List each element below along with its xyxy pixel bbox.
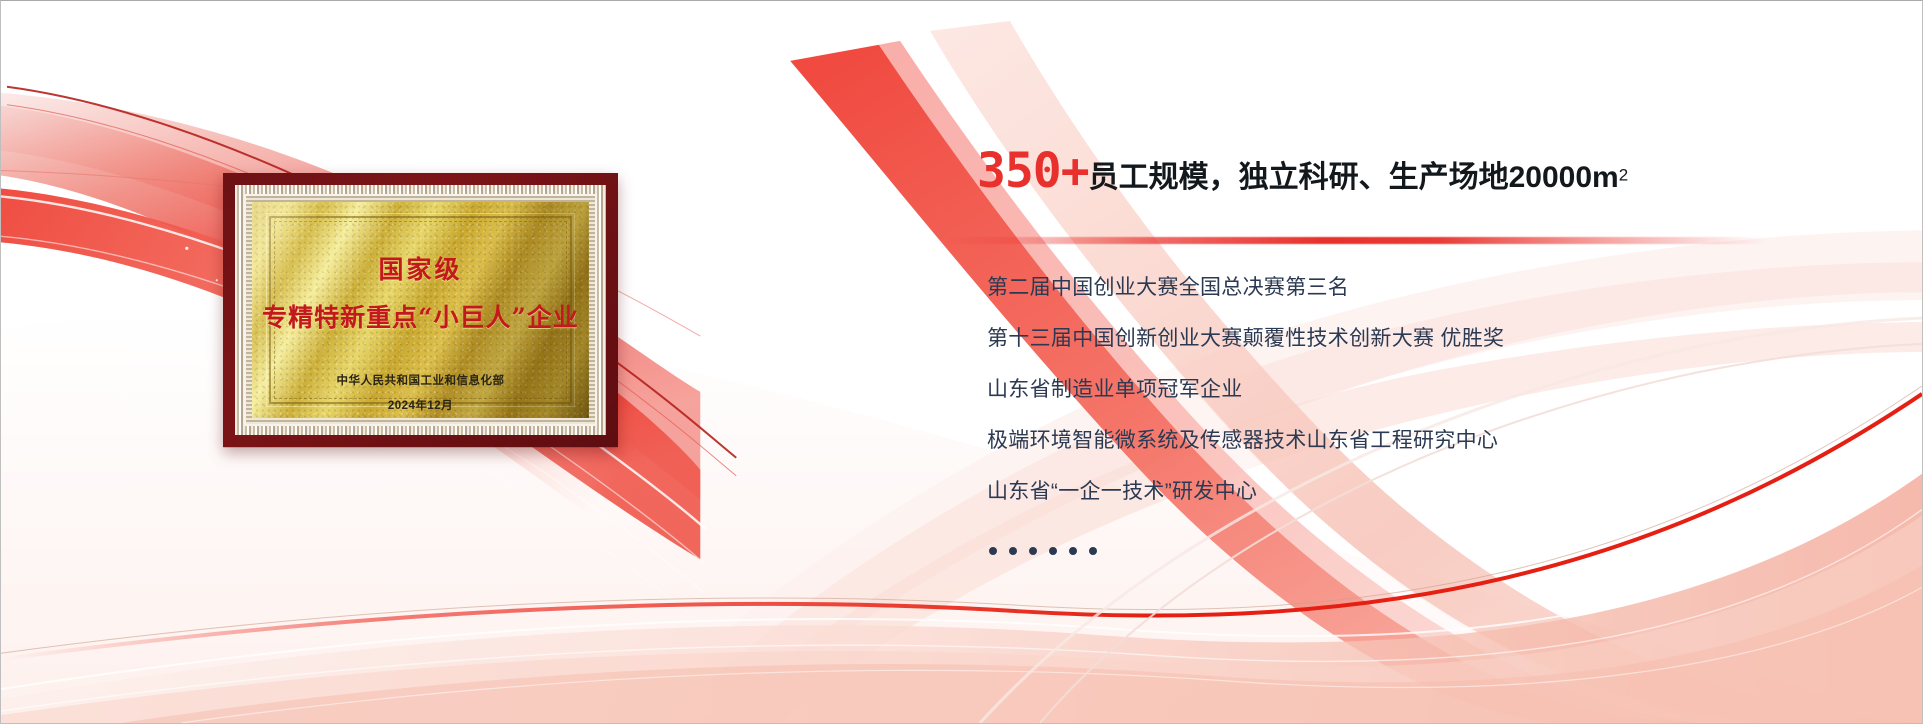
list-item: 第二届中国创业大赛全国总决赛第三名 [987,277,1887,298]
promo-banner: 国家级 专精特新重点“小巨人”企业 中华人民共和国工业和信息化部 2024年12… [0,0,1923,724]
headline: 350+员工规模，独立科研、生产场地20000m2 [977,147,1628,196]
headline-underline [946,237,1766,244]
plaque-issuer: 中华人民共和国工业和信息化部 [337,372,505,388]
ellipsis-dot [1009,547,1017,555]
achievement-list: 第二届中国创业大赛全国总决赛第三名 第十三届中国创新创业大赛颠覆性技术创新大赛 … [987,277,1887,532]
list-item: 第十三届中国创新创业大赛颠覆性技术创新大赛 优胜奖 [987,328,1887,349]
award-plaque: 国家级 专精特新重点“小巨人”企业 中华人民共和国工业和信息化部 2024年12… [223,173,618,447]
ellipsis-dot [1069,547,1077,555]
list-item: 山东省“一企一技术”研发中心 [987,481,1887,502]
plaque-text-block: 国家级 专精特新重点“小巨人”企业 中华人民共和国工业和信息化部 2024年12… [252,202,589,418]
ellipsis-dot [1049,547,1057,555]
plaque-ornate-border: 国家级 专精特新重点“小巨人”企业 中华人民共和国工业和信息化部 2024年12… [235,185,606,435]
list-item: 极端环境智能微系统及传感器技术山东省工程研究中心 [987,430,1887,451]
headline-superscript: 2 [1619,166,1628,185]
ellipsis-dot [1089,547,1097,555]
ellipsis-dot [1029,547,1037,555]
headline-text: 员工规模，独立科研、生产场地20000m [1089,161,1619,194]
more-items-ellipsis [989,547,1097,555]
plaque-inner-border: 国家级 专精特新重点“小巨人”企业 中华人民共和国工业和信息化部 2024年12… [244,194,597,426]
list-item: 山东省制造业单项冠军企业 [987,379,1887,400]
plaque-date: 2024年12月 [388,397,453,413]
plaque-title-line2: 专精特新重点“小巨人”企业 [262,298,579,334]
headline-metric: 350+ [977,143,1089,199]
ellipsis-dot [989,547,997,555]
plaque-title-line1: 国家级 [378,250,462,286]
plaque-gold-face: 国家级 专精特新重点“小巨人”企业 中华人民共和国工业和信息化部 2024年12… [252,202,589,418]
plaque-frame: 国家级 专精特新重点“小巨人”企业 中华人民共和国工业和信息化部 2024年12… [223,173,618,447]
